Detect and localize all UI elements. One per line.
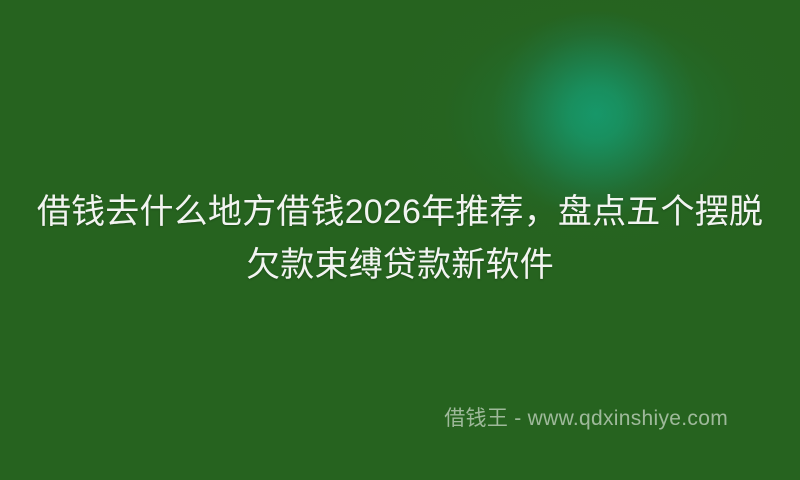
article-cover-banner: 借钱去什么地方借钱2026年推荐，盘点五个摆脱 欠款束缚贷款新软件 借钱王 - … (0, 0, 800, 480)
site-watermark: 借钱王 - www.qdxinshiye.com (444, 406, 728, 432)
page-title: 借钱去什么地方借钱2026年推荐，盘点五个摆脱 欠款束缚贷款新软件 (0, 186, 800, 292)
